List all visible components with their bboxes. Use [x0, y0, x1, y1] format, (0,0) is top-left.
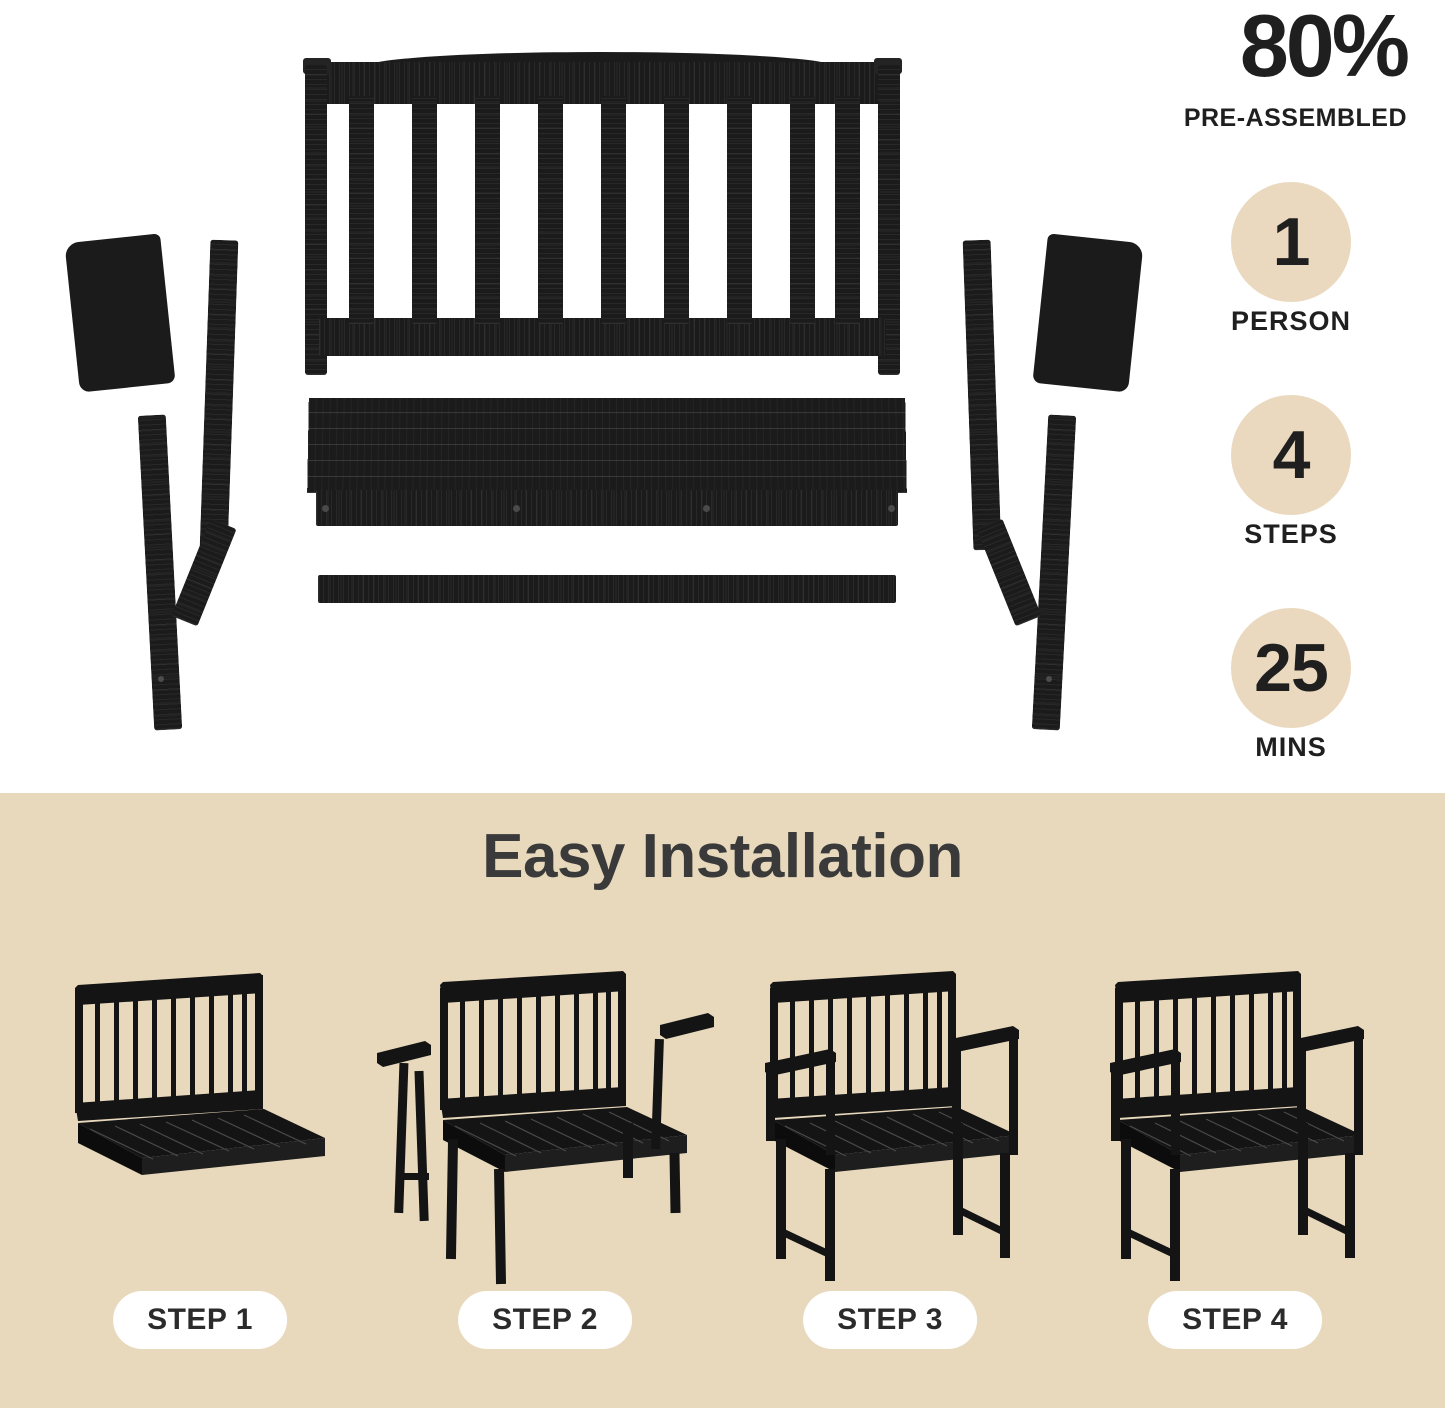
- armrest-part-left: [64, 233, 175, 392]
- backrest-slat: [664, 96, 689, 324]
- easy-installation-section: Easy Installation: [0, 793, 1445, 1408]
- leg-brace-right: [976, 519, 1041, 627]
- stretcher-bar-part: [318, 575, 896, 603]
- seat-part: [308, 398, 906, 538]
- steps-stat-circle: 4: [1231, 395, 1351, 515]
- rear-leg-right: [1032, 414, 1076, 730]
- backrest-slat: [835, 96, 860, 324]
- seat-screw: [888, 505, 895, 512]
- backrest-slat: [475, 96, 500, 324]
- preassembled-label: PRE-ASSEMBLED: [1184, 104, 1407, 133]
- backrest-slat: [349, 96, 374, 324]
- section-title: Easy Installation: [0, 821, 1445, 892]
- step-2: STEP 2: [365, 963, 725, 1383]
- preassembled-percent: 80%: [1240, 2, 1407, 90]
- front-leg-left: [200, 240, 239, 551]
- seat-screw: [322, 505, 329, 512]
- person-stat-caption: PERSON: [1171, 306, 1411, 337]
- step-4: STEP 4: [1055, 963, 1415, 1383]
- step-2-figure: [365, 963, 725, 1293]
- seat-front-apron: [316, 490, 898, 526]
- steps-stat: 4 STEPS: [1171, 395, 1411, 550]
- person-stat: 1 PERSON: [1171, 182, 1411, 337]
- front-leg-right: [963, 240, 1002, 551]
- seat-screw: [513, 505, 520, 512]
- time-stat: 25 MINS: [1171, 608, 1411, 763]
- step-4-figure: [1055, 963, 1415, 1293]
- steps-stat-value: 4: [1273, 421, 1310, 489]
- backrest-slat: [538, 96, 563, 324]
- time-stat-value: 25: [1254, 634, 1328, 702]
- person-stat-value: 1: [1273, 208, 1310, 276]
- leg-brace-left: [171, 519, 236, 627]
- step-2-illustration: [365, 963, 725, 1293]
- step-3-illustration: [710, 963, 1070, 1293]
- step-2-label[interactable]: STEP 2: [458, 1291, 632, 1349]
- backrest-part: [305, 30, 900, 350]
- time-stat-circle: 25: [1231, 608, 1351, 728]
- backrest-slat: [790, 96, 815, 324]
- step-3-figure: [710, 963, 1070, 1293]
- leg-screw-right: [1046, 676, 1052, 682]
- rear-leg-left: [138, 414, 182, 730]
- step-1-illustration: [20, 963, 380, 1293]
- exploded-parts-diagram: [0, 0, 1135, 793]
- backrest-slat: [601, 96, 626, 324]
- step-3: STEP 3: [710, 963, 1070, 1383]
- installation-steps-row: STEP 1: [0, 963, 1445, 1383]
- product-parts-section: 80% PRE-ASSEMBLED 1 PERSON 4 STEPS 25 MI…: [0, 0, 1445, 793]
- step-1-figure: [20, 963, 380, 1293]
- person-stat-circle: 1: [1231, 182, 1351, 302]
- backrest-slat: [412, 96, 437, 324]
- step-3-label[interactable]: STEP 3: [803, 1291, 977, 1349]
- seat-slats: [307, 398, 907, 493]
- seat-screw: [703, 505, 710, 512]
- time-stat-caption: MINS: [1171, 732, 1411, 763]
- backrest-slat: [727, 96, 752, 324]
- steps-stat-caption: STEPS: [1171, 519, 1411, 550]
- step-1-label[interactable]: STEP 1: [113, 1291, 287, 1349]
- armrest-part-right: [1032, 233, 1143, 392]
- step-1: STEP 1: [20, 963, 380, 1383]
- stats-panel: 80% PRE-ASSEMBLED 1 PERSON 4 STEPS 25 MI…: [1135, 0, 1445, 793]
- leg-screw-left: [158, 676, 164, 682]
- step-4-illustration: [1055, 963, 1415, 1293]
- step-4-label[interactable]: STEP 4: [1148, 1291, 1322, 1349]
